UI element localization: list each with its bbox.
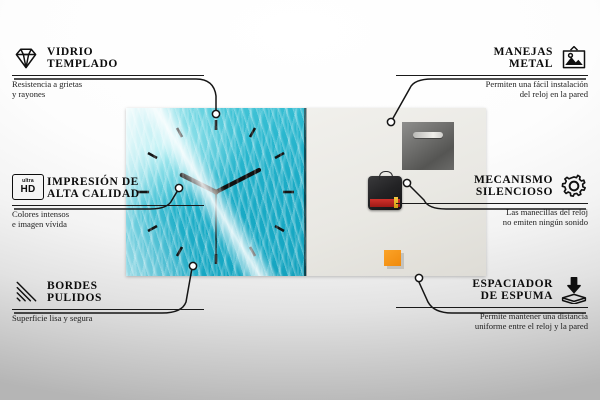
feature-mechanism-desc: Las manecillas del reloj no emiten ningú… [396,207,588,228]
feature-handles-desc: Permiten una fácil instalación del reloj… [396,79,588,100]
polished-edge-icon [12,278,40,306]
feature-edges-rule [12,309,204,310]
feature-glass-header: VIDRIO TEMPLADO [12,44,204,72]
feature-glass-rule [12,75,204,76]
metal-hanger-plate [402,122,454,170]
feature-handles: MANEJAS METAL Permiten una fácil instala… [396,44,588,100]
feature-print-desc: Colores intensos e imagen vívida [12,209,204,230]
feature-glass: VIDRIO TEMPLADO Resistencia a grietas y … [12,44,204,100]
feature-spacer-rule [396,307,588,308]
feature-glass-title: VIDRIO TEMPLADO [47,46,118,71]
feature-handles-header: MANEJAS METAL [396,44,588,72]
feature-edges-desc: Superficie lisa y segura [12,313,204,323]
feature-print-title: IMPRESIÓN DE ALTA CALIDAD [47,176,140,201]
feature-edges-header: BORDES PULIDOS [12,278,204,306]
arrow-onto-pad-icon [560,276,588,304]
gear-icon [560,172,588,200]
feature-mechanism-header: MECANISMO SILENCIOSO [396,172,588,200]
feature-spacer: ESPACIADOR DE ESPUMA Permite mantener un… [396,276,588,332]
feature-spacer-desc: Permite mantener una distancia uniforme … [396,311,588,332]
feature-glass-desc: Resistencia a grietas y rayones [12,79,204,100]
feature-spacer-header: ESPACIADOR DE ESPUMA [396,276,588,304]
movement-hanging-loop [379,171,393,180]
feature-mechanism-title: MECANISMO SILENCIOSO [474,174,553,199]
foam-spacer-pad [384,250,401,266]
feature-spacer-title: ESPACIADOR DE ESPUMA [472,278,553,303]
feature-print-rule [12,205,204,206]
feature-print: ultra HD IMPRESIÓN DE ALTA CALIDAD Color… [12,174,204,230]
feature-handles-rule [396,75,588,76]
diamond-icon [12,44,40,72]
feature-edges-title: BORDES PULIDOS [47,280,102,305]
hanger-slot [413,132,443,138]
picture-frame-hanger-icon [560,44,588,72]
feature-edges: BORDES PULIDOS Superficie lisa y segura [12,278,204,323]
ultra-hd-icon-main-text: HD [20,185,35,195]
ultra-hd-icon: ultra HD [12,174,40,202]
feature-print-header: ultra HD IMPRESIÓN DE ALTA CALIDAD [12,174,204,202]
feature-mechanism-rule [396,203,588,204]
feature-mechanism: MECANISMO SILENCIOSO Las manecillas del … [396,172,588,228]
infographic-canvas: VIDRIO TEMPLADO Resistencia a grietas y … [0,0,600,400]
feature-handles-title: MANEJAS METAL [494,46,553,71]
